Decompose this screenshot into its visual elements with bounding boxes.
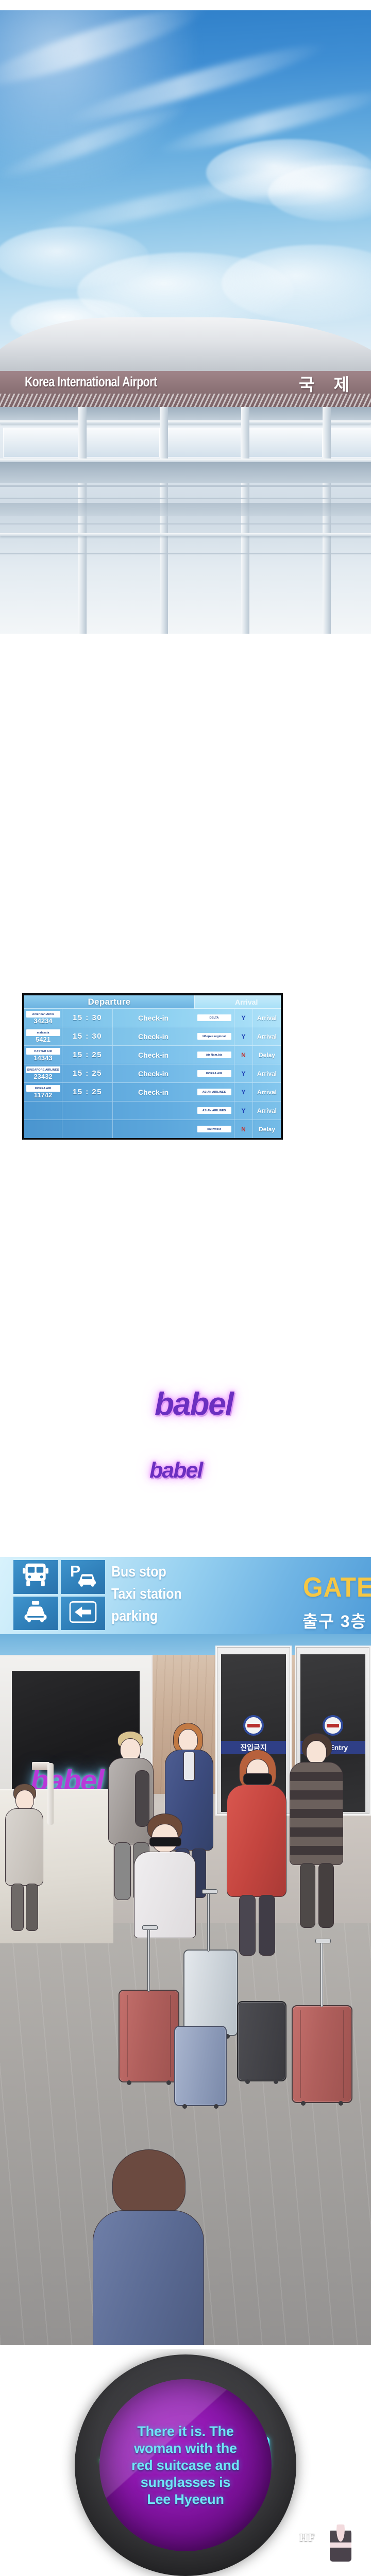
babel-logo-small: babel — [149, 1458, 202, 1483]
suitcase-handle — [147, 1928, 150, 1992]
sign-line-taxi-station: Taxi station — [111, 1583, 182, 1605]
flight-number: 5421 — [36, 1036, 50, 1043]
leg — [11, 1884, 24, 1931]
parking-car-icon-tile: P — [61, 1560, 106, 1594]
arrival-airline-logo: DELTA — [197, 1014, 231, 1021]
arrival-status: Arrival — [253, 1064, 281, 1082]
panel-airport-interior: babel babel 진입금지 No Entry — [0, 1634, 371, 2345]
board-header-arrival: Arrival — [194, 995, 281, 1009]
departure-status: Check-in — [113, 1064, 194, 1082]
arrival-logo-cell: KOREA AIR — [194, 1064, 234, 1082]
leg — [114, 1842, 131, 1900]
sunglasses — [149, 1837, 181, 1846]
speech-orb: ♥ There it is. The woman with the red su… — [75, 2354, 296, 2576]
leg — [26, 1884, 38, 1931]
departure-time: 15 : 25 — [62, 1083, 113, 1101]
speech-line-4: sunglasses is — [131, 2474, 240, 2491]
flight-number: 34234 — [33, 1018, 52, 1025]
suitcase-wheel — [339, 2101, 343, 2106]
grey-suitcase — [183, 1950, 238, 2036]
suitcase-wheel — [127, 2080, 131, 2085]
taxi-icon — [21, 1599, 50, 1628]
walkway-pillar — [78, 407, 87, 634]
departure-status: Check-in — [113, 1046, 194, 1064]
man-with-sunglasses — [132, 1816, 197, 1939]
parking-car-icon: P — [68, 1563, 98, 1591]
arrival-flag: Y — [234, 1027, 253, 1045]
arrival-flag: Y — [234, 1064, 253, 1082]
orb-face: There it is. The woman with the red suit… — [99, 2379, 272, 2551]
head — [15, 1790, 34, 1810]
airline-logo-cell — [24, 1120, 62, 1138]
glass-pane — [329, 428, 371, 457]
arrival-flag: N — [234, 1046, 253, 1064]
head — [178, 1729, 198, 1752]
airline-logo-cell — [24, 1101, 62, 1120]
flight-number: 11742 — [34, 1092, 52, 1099]
leg — [259, 1895, 275, 1956]
arrival-logo-cell: DELTA — [194, 1009, 234, 1027]
suitcase-wheel — [301, 2101, 306, 2106]
glass-pane — [3, 428, 78, 457]
svg-text:P: P — [70, 1563, 80, 1580]
board-row: American Airlin 34234 15 : 30 Check-in D… — [24, 1009, 281, 1027]
walkway-band — [0, 503, 371, 516]
flight-number: 23432 — [33, 1073, 52, 1080]
arrival-flag: N — [234, 1120, 253, 1138]
arrival-airline-logo: louthwest — [197, 1126, 231, 1132]
board-row: louthwest N Delay — [24, 1120, 281, 1138]
departure-time: 15 : 25 — [62, 1064, 113, 1082]
airline-logo-cell: HASTAR AIR 14343 — [24, 1046, 62, 1064]
airline-logo-cell: malaysia 5421 — [24, 1027, 62, 1045]
suitcase-wheel — [274, 2079, 278, 2084]
walkway-band — [0, 462, 371, 483]
traveller-left-standing — [4, 1784, 45, 1933]
glass-pane — [166, 428, 241, 457]
suitcase-handle — [207, 1892, 210, 1952]
board-row: KOREA AIR 11742 15 : 25 Check-in ASIAN A… — [24, 1083, 281, 1101]
glass-pane — [247, 428, 323, 457]
walkway-line — [0, 498, 371, 499]
walkway-line — [0, 485, 371, 487]
airline-logo-cell: SINGAPORE AIRLINES 23432 — [24, 1064, 62, 1082]
suitcase-wheel — [166, 2080, 171, 2085]
arrival-flag: Y — [234, 1083, 253, 1101]
arrival-logo-cell: louthwest — [194, 1120, 234, 1138]
panel-walkway — [0, 407, 371, 634]
suitcase-lines — [300, 2010, 344, 2098]
sign-icon-grid: P — [13, 1560, 105, 1630]
speech-line-5: Lee Hyeeun — [131, 2491, 240, 2508]
foreground-character-back-view — [98, 2149, 201, 2345]
blue-suitcase — [174, 2026, 227, 2106]
torso — [5, 1808, 43, 1886]
flight-number: 14343 — [33, 1055, 52, 1062]
walkway-pillar — [323, 407, 331, 634]
departure-time: 15 : 30 — [62, 1009, 113, 1027]
departure-board: Departure Arrival American Airlin 34234 … — [23, 993, 282, 1140]
shirt — [183, 1752, 195, 1781]
speech-line-2: woman with the — [131, 2440, 240, 2457]
arrival-airline-logo: ASIAN AIRLINES — [197, 1089, 231, 1095]
airport-name-korean: 국 제 — [299, 371, 357, 396]
sunglasses — [243, 1773, 272, 1785]
arrival-status: Arrival — [253, 1009, 281, 1027]
torso-striped — [290, 1762, 343, 1865]
airport-name-english: Korea International Airport — [25, 374, 157, 390]
airline-logo-cell: KOREA AIR 11742 — [24, 1083, 62, 1101]
dark-suitcase — [237, 2001, 286, 2081]
leg — [318, 1863, 334, 1928]
departure-status: Check-in — [113, 1083, 194, 1101]
departure-time — [62, 1120, 113, 1138]
suitcase-wheel — [214, 2104, 218, 2109]
no-entry-icon — [323, 1715, 343, 1736]
panel-airport-exterior: Korea International Airport 국 제 — [0, 10, 371, 407]
webtoon-page: Korea International Airport 국 제 Departur… — [0, 0, 371, 2576]
counter-post — [47, 1763, 54, 1825]
leg — [300, 1863, 315, 1928]
red-suitcase — [119, 1990, 179, 2082]
glass-pane — [85, 428, 160, 457]
walkway-line — [0, 523, 371, 524]
board-row: SINGAPORE AIRLINES 23432 15 : 25 Check-i… — [24, 1064, 281, 1083]
arrival-flag: Y — [234, 1101, 253, 1120]
arrival-status: Arrival — [253, 1027, 281, 1045]
board-row: ASIAN AIRLINES Y Arrival — [24, 1101, 281, 1120]
left-arrow-icon-tile — [61, 1597, 106, 1631]
hair-back — [112, 2149, 185, 2215]
walkway-line — [0, 553, 371, 554]
arrival-flag: Y — [234, 1009, 253, 1027]
departure-time: 15 : 30 — [62, 1027, 113, 1045]
departure-status — [113, 1120, 194, 1138]
arrival-logo-cell: Иберия regional — [194, 1027, 234, 1045]
taxi-icon-tile — [13, 1597, 58, 1631]
board-row: malaysia 5421 15 : 30 Check-in Иберия re… — [24, 1027, 281, 1046]
head — [306, 1740, 327, 1764]
arrival-status: Delay — [253, 1120, 281, 1138]
arrival-logo-cell: ASIAN AIRLINES — [194, 1083, 234, 1101]
board-rows: American Airlin 34234 15 : 30 Check-in D… — [24, 1009, 281, 1138]
sign-line-bus-stop: Bus stop — [111, 1561, 182, 1583]
suitcase-lines — [127, 1995, 171, 2077]
bus-icon — [21, 1563, 50, 1591]
walkway-rail — [0, 420, 371, 424]
departure-time — [62, 1101, 113, 1120]
sign-line-parking: parking — [111, 1605, 182, 1628]
counter-clamp — [32, 1762, 49, 1770]
suitcase-handle — [321, 1941, 323, 2007]
walkway-rail — [0, 533, 371, 536]
gate-label: GATE — [303, 1571, 371, 1603]
arrival-logo-cell: Air Nam.bia — [194, 1046, 234, 1064]
walkway-rail — [0, 459, 371, 462]
watermark-figure-icon — [330, 2524, 351, 2562]
walkway-band — [0, 407, 371, 420]
arrival-status: Arrival — [253, 1101, 281, 1120]
departure-time: 15 : 25 — [62, 1046, 113, 1064]
panel-speech-orb: ♥ There it is. The woman with the red su… — [0, 2349, 371, 2576]
arrival-logo-cell: ASIAN AIRLINES — [194, 1101, 234, 1120]
suitcase-wheel — [182, 2104, 187, 2109]
panel-gutter — [0, 634, 371, 994]
suitcase-wheel — [245, 2079, 250, 2084]
gate-label-korean: 출구 3층 — [302, 1608, 367, 1632]
woman-with-red-suitcase — [226, 1753, 288, 1959]
leg — [239, 1895, 256, 1956]
walkway-pillar — [160, 407, 168, 634]
panel-gutter — [0, 1140, 371, 1557]
board-row: HASTAR AIR 14343 15 : 25 Check-in Air Na… — [24, 1046, 281, 1064]
traveller-striped-coat — [289, 1735, 345, 1931]
shoulders-coat — [93, 2210, 204, 2345]
departure-status: Check-in — [113, 1027, 194, 1045]
bus-icon-tile — [13, 1560, 58, 1594]
speech-line-3: red suitcase and — [131, 2457, 240, 2474]
no-entry-icon — [243, 1715, 264, 1736]
walkway-pillar — [241, 407, 249, 634]
torso-red-coat — [227, 1785, 286, 1897]
speech-line-1: There it is. The — [131, 2423, 240, 2440]
left-arrow-icon — [68, 1599, 98, 1628]
sign-text-block: Bus stop Taxi station parking — [111, 1561, 182, 1628]
speech-text: There it is. The woman with the red suit… — [118, 2423, 253, 2508]
arrival-airline-logo: ASIAN AIRLINES — [197, 1107, 231, 1114]
red-suitcase-secondary — [292, 2005, 352, 2103]
board-header-departure: Departure — [24, 995, 194, 1009]
watermark-text: HF — [299, 2531, 315, 2544]
arrival-status: Arrival — [253, 1083, 281, 1101]
board-header: Departure Arrival — [24, 995, 281, 1009]
arrival-airline-logo: Air Nam.bia — [197, 1052, 231, 1058]
arrival-airline-logo: Иберия regional — [197, 1033, 231, 1040]
airline-logo-cell: American Airlin 34234 — [24, 1009, 62, 1027]
arrival-status: Delay — [253, 1046, 281, 1064]
babel-logo-large: babel — [155, 1386, 233, 1422]
departure-status — [113, 1101, 194, 1120]
panel-directional-sign: P — [0, 1557, 371, 1634]
departure-status: Check-in — [113, 1009, 194, 1027]
arrival-airline-logo: KOREA AIR — [197, 1070, 231, 1077]
